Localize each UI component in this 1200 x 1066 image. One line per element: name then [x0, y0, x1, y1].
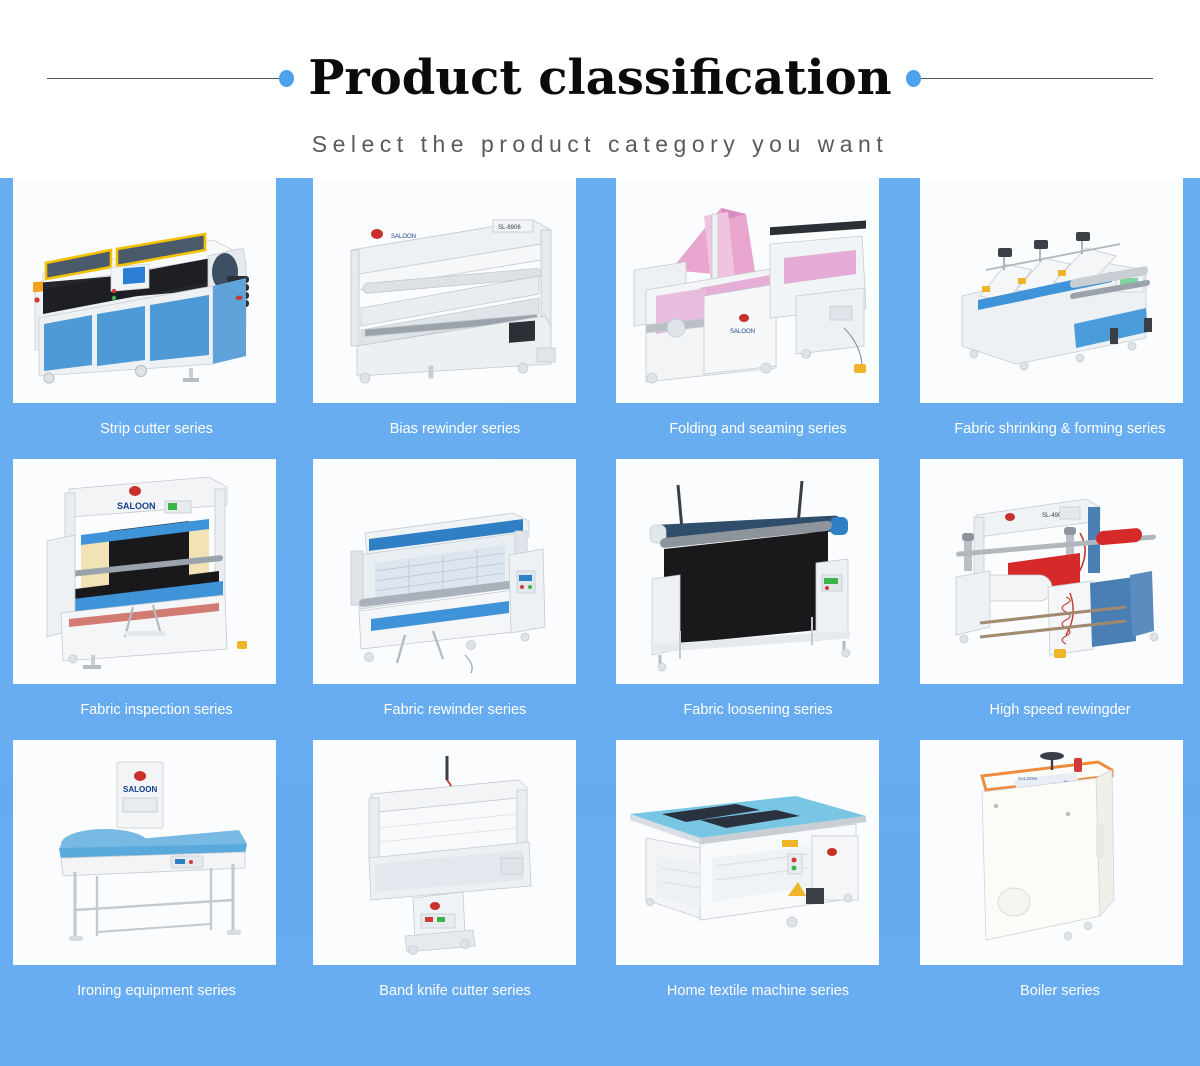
product-card-fabric-shrinking-forming-series[interactable]: Fabric shrinking & forming series: [900, 178, 1200, 459]
bullet-dot-left-icon: [279, 70, 294, 87]
product-card-high-speed-rewingder[interactable]: SL-490: [900, 459, 1200, 740]
product-card-label: Strip cutter series: [0, 403, 300, 459]
product-card-home-textile-machine-series[interactable]: Home textile machine series: [600, 740, 900, 1021]
svg-text:SL-490: SL-490: [1042, 513, 1062, 519]
product-card-band-knife-cutter-series[interactable]: Band knife cutter series: [300, 740, 600, 1021]
product-card-label: Folding and seaming series: [600, 403, 900, 459]
product-card-fabric-loosening-series[interactable]: Fabric loosening series: [600, 459, 900, 740]
product-card-label: High speed rewingder: [900, 684, 1200, 740]
product-card-label: Fabric rewinder series: [300, 684, 600, 740]
page-title: Product classification: [308, 49, 891, 107]
svg-text:SALOON: SALOON: [117, 501, 156, 511]
product-card-label: Fabric inspection series: [0, 684, 300, 740]
product-card-label: Fabric shrinking & forming series: [900, 403, 1200, 459]
svg-text:SALOON: SALOON: [730, 329, 755, 335]
product-image-fabric-shrinking-forming-series: [920, 178, 1183, 403]
product-image-strip-cutter-series: [13, 178, 276, 403]
product-card-label: Fabric loosening series: [600, 684, 900, 740]
product-card-fabric-rewinder-series[interactable]: Fabric rewinder series: [300, 459, 600, 740]
page-subtitle: Select the product category you want: [0, 131, 1200, 158]
bullet-dot-right-icon: [906, 70, 921, 87]
product-card-strip-cutter-series[interactable]: Strip cutter series: [0, 178, 300, 459]
product-image-fabric-rewinder-series: [313, 459, 576, 684]
product-card-ironing-equipment-series[interactable]: SALOON: [0, 740, 300, 1021]
svg-text:SL-8906: SL-8906: [498, 225, 521, 231]
product-card-label: Band knife cutter series: [300, 965, 600, 1021]
product-image-high-speed-rewingder: SL-490: [920, 459, 1183, 684]
title-rule-right: [921, 78, 1153, 79]
svg-text:SALOON: SALOON: [1018, 776, 1037, 781]
product-image-fabric-inspection-series: SALOON: [13, 459, 276, 684]
product-card-label: Home textile machine series: [600, 965, 900, 1021]
product-image-bias-rewinder-series: SALOON SL-8906: [313, 178, 576, 403]
product-card-folding-and-seaming-series[interactable]: SALOON Folding and seaming series: [600, 178, 900, 459]
product-image-folding-and-seaming-series: SALOON: [616, 178, 879, 403]
product-card-label: Ironing equipment series: [0, 965, 300, 1021]
product-image-band-knife-cutter-series: [313, 740, 576, 965]
product-image-boiler-series: SALOON: [920, 740, 1183, 965]
title-row: Product classification: [0, 0, 1200, 109]
product-grid: Strip cutter series SALOON SL-8906: [0, 178, 1200, 1021]
product-card-label: Boiler series: [900, 965, 1200, 1021]
title-rule-left: [47, 78, 279, 79]
product-card-boiler-series[interactable]: SALOON Boiler series: [900, 740, 1200, 1021]
product-card-label: Bias rewinder series: [300, 403, 600, 459]
product-card-fabric-inspection-series[interactable]: SALOON: [0, 459, 300, 740]
product-image-ironing-equipment-series: SALOON: [13, 740, 276, 965]
product-category-section: Strip cutter series SALOON SL-8906: [0, 178, 1200, 1066]
product-card-bias-rewinder-series[interactable]: SALOON SL-8906: [300, 178, 600, 459]
product-image-fabric-loosening-series: [616, 459, 879, 684]
product-image-home-textile-machine-series: [616, 740, 879, 965]
svg-text:SALOON: SALOON: [123, 785, 157, 794]
svg-text:SALOON: SALOON: [391, 234, 416, 240]
page-header: Product classification Select the produc…: [0, 0, 1200, 178]
